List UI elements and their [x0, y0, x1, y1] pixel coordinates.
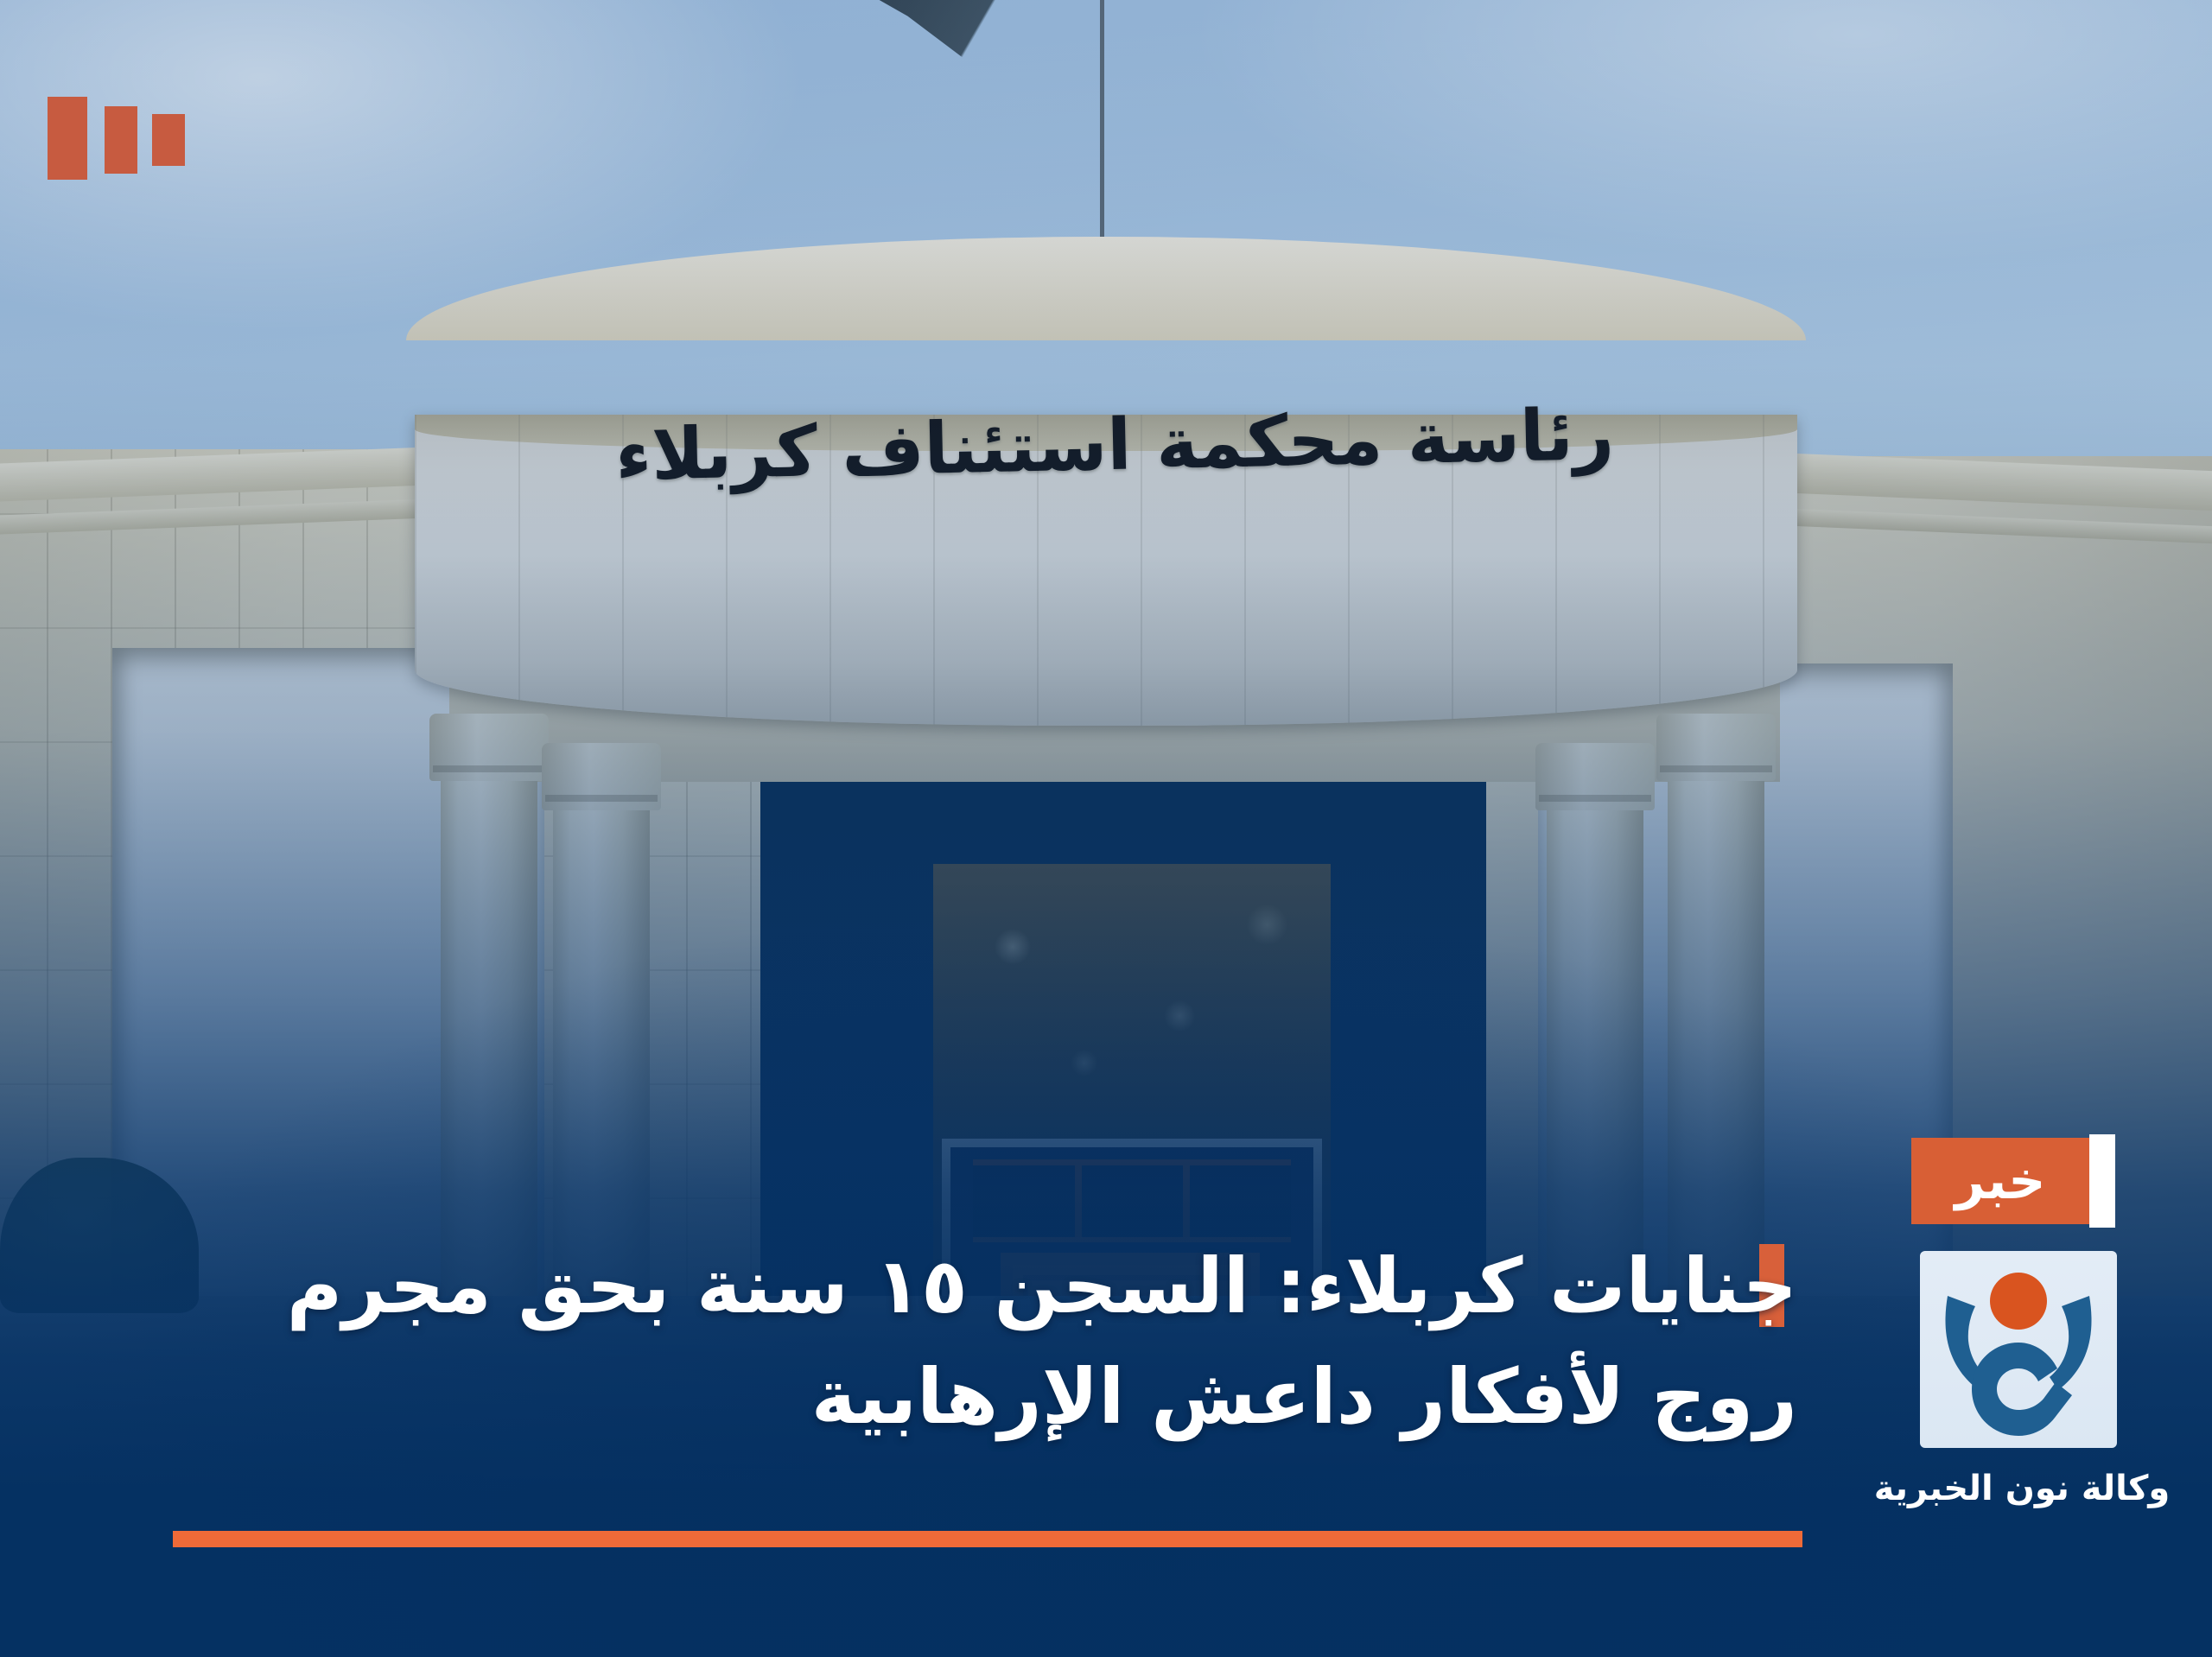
news-badge-label: خبر	[1955, 1155, 2045, 1207]
logo-bar-1	[48, 97, 87, 180]
agency-name: وكالة نون الخبرية	[1840, 1469, 2203, 1508]
logo-bar-2	[105, 106, 137, 174]
news-badge: خبر	[1911, 1138, 2129, 1228]
news-card: رئاسة محكمة استئناف كربلاء	[0, 0, 2212, 1657]
noon-news-agency-logo-icon	[1920, 1251, 2117, 1448]
headline-text: جنايات كربلاء: السجن ١٥ سنة بحق مجرم روج…	[276, 1231, 1797, 1451]
logo-bar-3	[152, 114, 185, 166]
news-badge-box: خبر	[1911, 1138, 2089, 1224]
news-badge-white-tab	[2089, 1134, 2115, 1228]
bottom-orange-rule	[173, 1531, 1802, 1547]
three-bars-logo[interactable]	[48, 97, 194, 183]
agency-logo-plate[interactable]	[1920, 1251, 2117, 1448]
